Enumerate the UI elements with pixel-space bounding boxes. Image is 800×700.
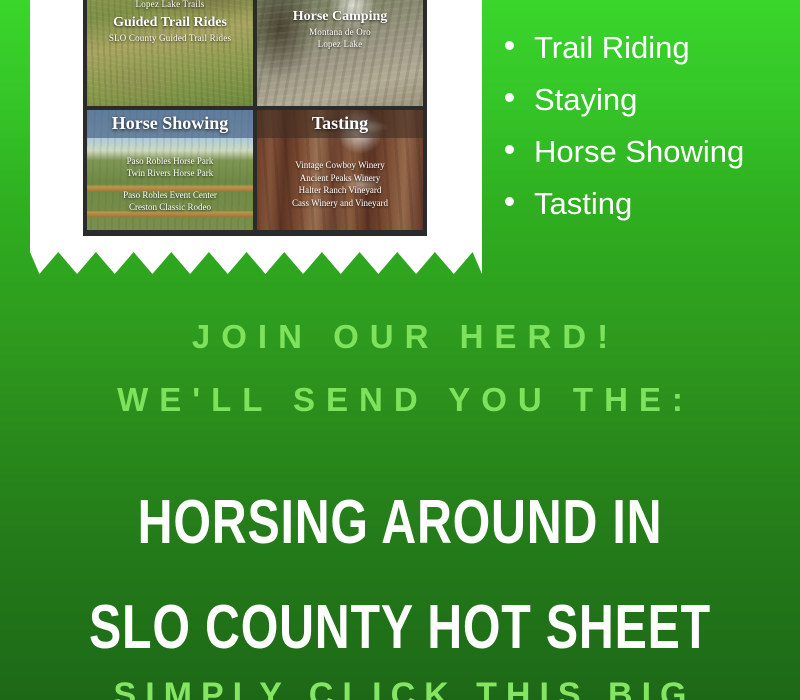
list-item: Tasting [505, 178, 795, 230]
list-item: Staying [505, 74, 795, 126]
collage-panel-guided-trail-rides: Santa Margarita Lake Lopez Lake Trails G… [87, 0, 253, 106]
panel-location-text: Halter Ranch Vineyard [299, 184, 382, 197]
panel-location-text: Montana de Oro [309, 26, 371, 38]
photo-card-zigzag-edge [30, 252, 482, 274]
cta-instruction-text: SIMPLY CLICK THIS BIG [0, 678, 800, 700]
panel-location-text: Vintage Cowboy Winery [295, 159, 384, 172]
panel-band-title: Tasting [257, 110, 423, 138]
panel-band-title: Horse Showing [87, 110, 253, 138]
collage-panel-tasting: Tasting Vintage Cowboy Winery Ancient Pe… [257, 110, 423, 230]
panel-location-text: Paso Robles Event Center [123, 189, 217, 202]
panel-title: Guided Trail Rides [113, 14, 227, 32]
bullet-dot-icon [505, 197, 514, 206]
bullet-label: Trail Riding [534, 22, 690, 74]
bullet-dot-icon [505, 93, 514, 102]
join-headline-line-1: JOIN OUR HERD! [0, 305, 800, 368]
list-item: Horse Showing [505, 126, 795, 178]
panel-location-text: Creston Classic Rodeo [129, 201, 211, 214]
panel-location-text: Cass Winery and Vineyard [292, 197, 388, 210]
panel-location-text: Lopez Lake [318, 38, 363, 50]
top-section: Santa Margarita Lake Lopez Lake Trails G… [0, 0, 800, 285]
panel-location-text: Lopez Lake Trails [136, 0, 205, 10]
cta-instruction-clipped: SIMPLY CLICK THIS BIG [0, 678, 800, 700]
join-headline-line-2: WE'LL SEND YOU THE: [0, 368, 800, 431]
activities-bullet-list: Trail Riding Staying Horse Showing Tasti… [505, 22, 795, 230]
panel-location-text: SLO County Guided Trail Rides [109, 32, 231, 44]
bullet-dot-icon [505, 41, 514, 50]
newsletter-title-block: HORSING AROUND IN SLO COUNTY HOT SHEET [0, 470, 800, 680]
activities-collage: Santa Margarita Lake Lopez Lake Trails G… [83, 0, 427, 236]
list-item: Trail Riding [505, 22, 795, 74]
panel-location-text: Twin Rivers Horse Park [127, 167, 214, 180]
panel-title: Horse Camping [293, 8, 388, 26]
join-our-herd-block: JOIN OUR HERD! WE'LL SEND YOU THE: [0, 305, 800, 431]
collage-panel-horse-camping: Horse Camping Montana de Oro Lopez Lake [257, 0, 423, 106]
panel-location-text: Paso Robles Horse Park [127, 155, 214, 168]
bullet-label: Staying [534, 74, 637, 126]
collage-panel-horse-showing: Horse Showing Paso Robles Horse Park Twi… [87, 110, 253, 230]
bullet-label: Tasting [534, 178, 632, 230]
newsletter-title-line-2: SLO COUNTY HOT SHEET [88, 575, 712, 680]
newsletter-title-line-1: HORSING AROUND IN [88, 470, 712, 575]
bullet-dot-icon [505, 145, 514, 154]
bullet-label: Horse Showing [534, 126, 744, 178]
panel-location-text: Ancient Peaks Winery [300, 172, 380, 185]
